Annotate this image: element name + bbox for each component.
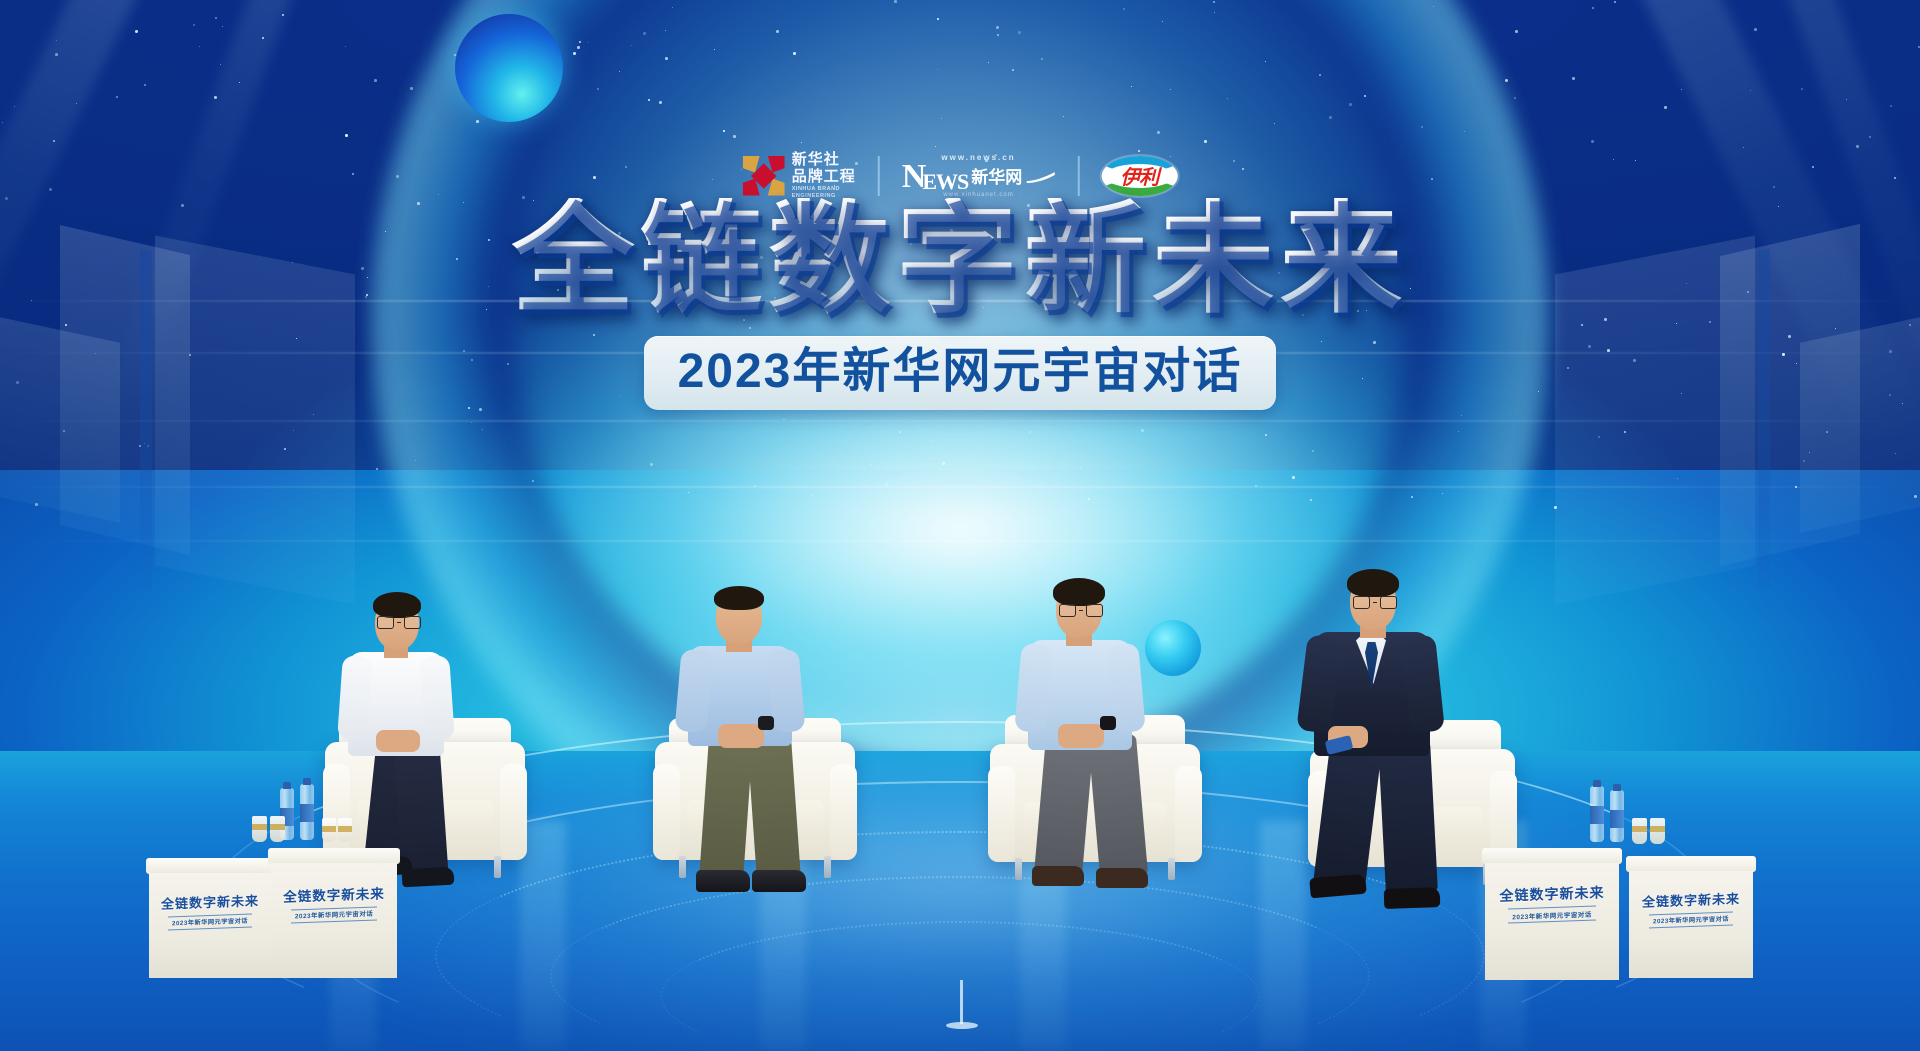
star — [988, 62, 989, 63]
star — [488, 286, 489, 287]
star — [1274, 123, 1275, 124]
hands — [1058, 724, 1104, 748]
event-title-block: 全链数字新未来 2023年新华网元宇宙对话 — [512, 198, 1408, 410]
glasses-icon — [377, 616, 421, 629]
star — [345, 46, 346, 47]
side-table-left-back: 全链数字新未来 2023年新华网元宇宙对话 — [146, 858, 274, 978]
logo-yili: 伊利 — [1101, 156, 1177, 196]
star — [215, 17, 217, 19]
microphone-base — [946, 1022, 978, 1029]
wristwatch-icon — [758, 716, 774, 730]
star — [415, 460, 416, 461]
wristwatch-icon — [1100, 716, 1116, 730]
star — [588, 42, 589, 43]
star — [1433, 6, 1434, 7]
star — [1635, 160, 1636, 161]
table-sign: 全链数字新未来 2023年新华网元宇宙对话 — [1492, 882, 1612, 925]
star — [1088, 498, 1090, 500]
bottle-label — [1610, 810, 1624, 828]
water-bottle — [300, 784, 314, 840]
lens-right — [404, 616, 421, 629]
panelist-2 — [660, 588, 860, 968]
star — [1041, 58, 1043, 60]
glasses-icon — [1059, 604, 1103, 617]
star — [899, 431, 901, 433]
star — [488, 239, 490, 241]
sneaker — [752, 870, 806, 892]
star — [1319, 74, 1321, 76]
cup-band — [270, 824, 285, 830]
logo-news-url-top: www.news.cn — [941, 153, 1015, 162]
star — [1890, 105, 1892, 107]
star — [1012, 69, 1014, 71]
star — [193, 24, 195, 26]
star — [385, 231, 386, 232]
star — [935, 146, 936, 147]
star — [366, 294, 368, 296]
shoe — [1032, 866, 1084, 886]
table-sign: 全链数字新未来 2023年新华网元宇宙对话 — [154, 890, 266, 931]
news-swoosh-icon — [1025, 171, 1055, 183]
star — [1505, 79, 1508, 82]
star — [1614, 1, 1616, 3]
logo-xinhua-line1: 新华社 — [792, 152, 856, 167]
bottle-cap — [1593, 780, 1601, 787]
logo-xinhua-line2: 品牌工程 — [792, 169, 856, 184]
star — [659, 101, 662, 104]
star — [1141, 429, 1144, 432]
star — [1349, 103, 1352, 106]
star — [577, 46, 580, 49]
star — [199, 46, 200, 47]
lens-left — [377, 616, 394, 629]
star — [1265, 61, 1266, 62]
logo-yili-text: 伊利 — [1120, 161, 1158, 190]
star — [456, 258, 458, 260]
table-sign-title: 全链数字新未来 — [276, 882, 392, 906]
leg — [1034, 734, 1094, 878]
star — [1754, 28, 1757, 31]
sneaker — [696, 870, 750, 892]
bottle-cap — [303, 778, 311, 785]
side-table-left-front: 全链数字新未来 2023年新华网元宇宙对话 — [268, 848, 400, 978]
star — [593, 176, 596, 179]
star — [1464, 131, 1465, 132]
star — [1312, 450, 1314, 452]
star — [1292, 476, 1295, 479]
stage-photo: 新华社 品牌工程 XINHUA BRAND ENGINEERING www.ne… — [0, 0, 1920, 1051]
star — [1410, 288, 1411, 289]
star — [1592, 7, 1594, 9]
star — [361, 267, 364, 270]
star — [625, 166, 627, 168]
star — [396, 175, 399, 178]
water-bottle — [1610, 790, 1624, 842]
hair — [373, 592, 421, 618]
star — [941, 118, 942, 119]
star — [942, 462, 945, 465]
leg — [1088, 734, 1148, 878]
star — [116, 96, 118, 98]
bottle-cap — [1613, 784, 1621, 791]
star — [1812, 166, 1814, 168]
shoe — [1096, 868, 1148, 888]
cup-band — [338, 826, 352, 832]
star — [1364, 95, 1366, 97]
star — [665, 30, 666, 31]
table-sign-title: 全链数字新未来 — [154, 890, 266, 913]
star — [937, 69, 938, 70]
star — [1442, 493, 1443, 494]
logo-news-chinese: 新华网 — [971, 169, 1022, 186]
star — [650, 463, 653, 466]
leg — [1313, 735, 1383, 888]
star — [463, 202, 464, 203]
drink-cup — [1650, 818, 1665, 844]
star — [352, 173, 354, 175]
bottle-cap — [283, 782, 291, 789]
leg — [699, 737, 753, 882]
backdrop-panel — [1800, 317, 1920, 533]
cup-band — [1650, 826, 1665, 832]
star — [1801, 88, 1803, 90]
star — [367, 277, 368, 278]
side-table-right-front: 全链数字新未来 2023年新华网元宇宙对话 — [1482, 848, 1622, 980]
star — [733, 135, 736, 138]
table-sign-subtitle: 2023年新华网元宇宙对话 — [1508, 905, 1595, 923]
star — [482, 429, 483, 430]
star — [376, 468, 378, 470]
microphone-stand — [960, 980, 963, 1024]
leg — [747, 737, 801, 882]
shoe — [402, 867, 455, 888]
star — [135, 30, 138, 33]
star — [1461, 415, 1462, 416]
star — [1515, 30, 1518, 33]
drink-cup — [270, 816, 285, 842]
hands — [718, 724, 764, 748]
star — [471, 422, 472, 423]
bottle-label — [1590, 806, 1604, 824]
star — [374, 79, 377, 82]
star — [1411, 496, 1413, 498]
star — [1514, 97, 1516, 99]
star — [1265, 434, 1267, 436]
star — [1170, 89, 1171, 90]
table-sign-subtitle: 2023年新华网元宇宙对话 — [291, 906, 377, 923]
light-streak — [0, 420, 1920, 422]
star — [1029, 431, 1031, 433]
star — [1591, 140, 1594, 143]
star — [486, 309, 487, 310]
star — [532, 480, 534, 482]
star — [220, 64, 221, 65]
star — [1458, 431, 1459, 432]
lens-right — [1380, 596, 1397, 609]
star — [1242, 168, 1244, 170]
event-main-title: 全链数字新未来 — [512, 198, 1408, 320]
star — [723, 130, 725, 132]
star — [665, 57, 668, 60]
panelist-4 — [1290, 570, 1500, 970]
star — [714, 49, 715, 50]
table-sign-subtitle: 2023年新华网元宇宙对话 — [1649, 911, 1733, 928]
panelist-3 — [1000, 578, 1200, 968]
table-sign-title: 全链数字新未来 — [1492, 882, 1612, 906]
side-table-right-back: 全链数字新未来 2023年新华网元宇宙对话 — [1626, 856, 1756, 978]
drink-cup — [322, 818, 336, 842]
star — [471, 359, 473, 361]
star — [631, 45, 632, 46]
star — [1214, 12, 1215, 13]
star — [712, 179, 713, 180]
star — [932, 440, 934, 442]
star — [345, 134, 348, 137]
drink-cup — [1632, 818, 1647, 844]
table-sign-title: 全链数字新未来 — [1634, 888, 1748, 911]
star — [49, 188, 52, 191]
logo-divider — [878, 156, 880, 196]
cup-band — [322, 826, 336, 832]
star — [1421, 126, 1423, 128]
star — [776, 30, 779, 33]
hair — [1053, 578, 1105, 606]
star — [1310, 499, 1312, 501]
star — [417, 202, 420, 205]
star — [894, 0, 897, 3]
star — [1233, 160, 1235, 162]
star — [468, 407, 470, 409]
hair — [714, 586, 764, 610]
star — [144, 84, 146, 86]
table-sign-subtitle: 2023年新华网元宇宙对话 — [168, 913, 252, 930]
hands — [376, 730, 420, 752]
arm-right — [419, 655, 455, 741]
logo-news-word: EWS — [922, 173, 968, 191]
star — [597, 88, 599, 90]
bridge — [1079, 610, 1083, 612]
star — [672, 7, 673, 8]
star — [476, 120, 479, 123]
star — [1538, 391, 1539, 392]
star — [793, 52, 796, 55]
star — [1123, 8, 1125, 10]
arm-left — [337, 655, 373, 741]
star — [579, 41, 581, 43]
star — [1329, 116, 1332, 119]
star — [1664, 106, 1667, 109]
star — [1162, 21, 1163, 22]
star — [811, 494, 813, 496]
shoe — [1384, 887, 1441, 909]
cup-band — [1632, 826, 1647, 832]
star — [801, 142, 802, 143]
star — [1213, 1, 1215, 3]
drink-cup — [338, 818, 352, 842]
star — [688, 492, 689, 493]
star — [997, 34, 999, 36]
light-streak — [0, 486, 1920, 488]
shoe — [1309, 874, 1367, 899]
star — [1018, 31, 1021, 34]
star — [1572, 77, 1575, 80]
star — [648, 99, 650, 101]
bridge — [397, 622, 401, 624]
star — [619, 71, 620, 72]
star — [937, 18, 939, 20]
star — [1613, 159, 1614, 160]
table-sign: 全链数字新未来 2023年新华网元宇宙对话 — [276, 882, 392, 924]
star — [1681, 89, 1682, 90]
bottle-label — [300, 804, 314, 822]
cup-band — [252, 824, 267, 830]
star — [643, 32, 646, 35]
star — [1204, 140, 1207, 143]
star — [1431, 178, 1433, 180]
hair — [1347, 569, 1399, 597]
planet-large-icon — [455, 14, 563, 122]
star — [365, 296, 367, 298]
star — [996, 26, 999, 29]
star — [2, 122, 3, 123]
light-streak — [0, 540, 1920, 542]
star — [1227, 98, 1228, 99]
beverage-group-left — [246, 782, 376, 862]
star — [507, 363, 509, 365]
star — [871, 464, 872, 465]
star — [1131, 86, 1132, 87]
star — [1063, 116, 1064, 117]
bridge — [1373, 602, 1377, 604]
leg — [1378, 741, 1438, 894]
water-bottle — [1590, 786, 1604, 842]
event-subtitle: 2023年新华网元宇宙对话 — [678, 348, 1243, 396]
lens-left — [1059, 604, 1076, 617]
star — [410, 87, 413, 90]
star — [1080, 467, 1081, 468]
logo-divider — [1077, 156, 1079, 196]
star — [222, 26, 223, 27]
glasses-icon — [1353, 596, 1397, 609]
table-sign: 全链数字新未来 2023年新华网元宇宙对话 — [1634, 888, 1748, 929]
star — [479, 408, 482, 411]
beverage-group-right — [1570, 784, 1700, 864]
lens-left — [1353, 596, 1370, 609]
star — [573, 52, 576, 55]
lens-right — [1086, 604, 1103, 617]
event-subtitle-pill: 2023年新华网元宇宙对话 — [644, 336, 1277, 410]
star — [1157, 131, 1160, 134]
drink-cup — [252, 816, 267, 842]
star — [438, 194, 439, 195]
